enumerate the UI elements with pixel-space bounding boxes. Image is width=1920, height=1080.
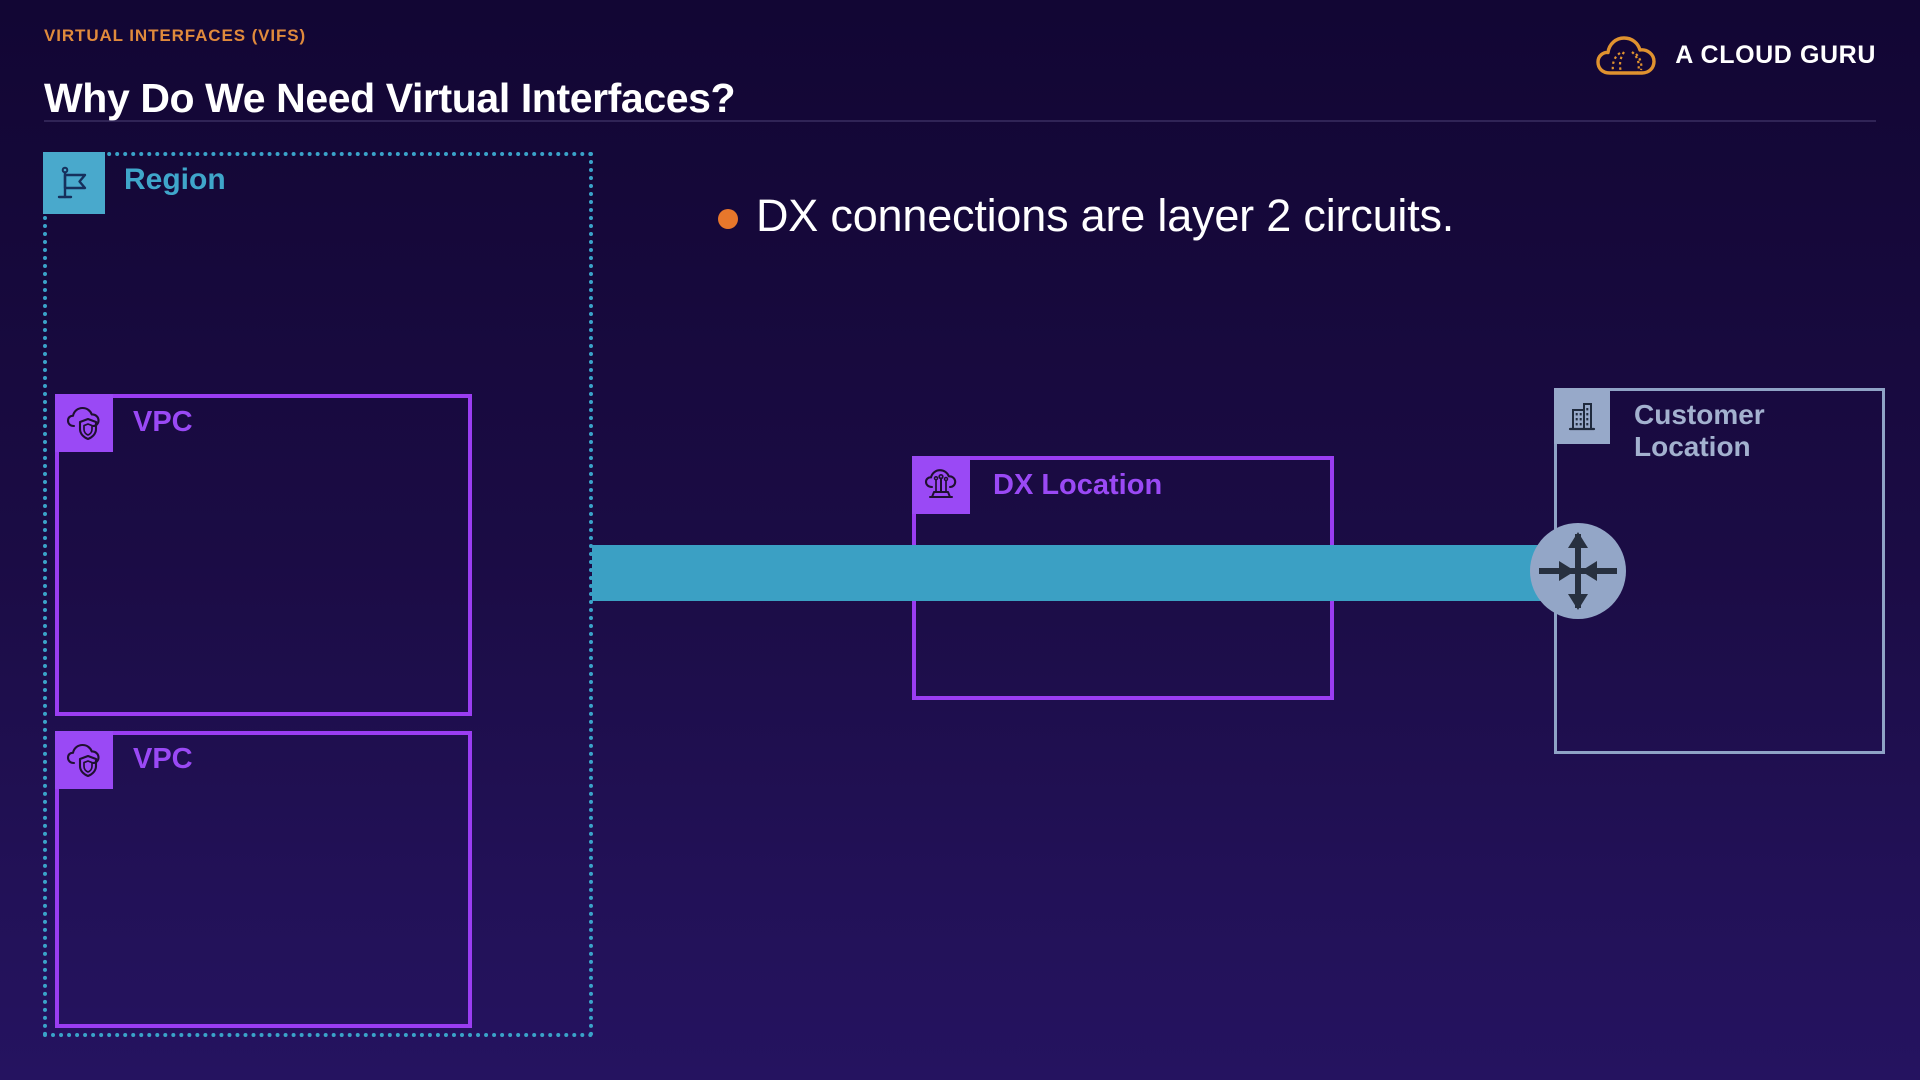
slide-canvas: VIRTUAL INTERFACES (VIFS) Why Do We Need… — [0, 0, 1920, 1080]
dx-connection-line — [592, 545, 1582, 601]
vpc-group-box-1 — [55, 394, 472, 716]
cloud-tower-icon — [912, 456, 970, 514]
bullet-list-item: DX connections are layer 2 circuits. — [718, 190, 1454, 242]
bullet-text: DX connections are layer 2 circuits. — [756, 190, 1454, 242]
flag-icon — [43, 152, 105, 214]
bullet-dot-icon — [718, 209, 738, 229]
brand-logo: A CLOUD GURU — [1596, 33, 1876, 77]
slide-eyebrow: VIRTUAL INTERFACES (VIFS) — [44, 26, 306, 46]
vpc-group-label-1: VPC — [133, 406, 193, 440]
building-icon — [1554, 388, 1610, 444]
customer-location-group-label: Customer Location — [1634, 399, 1765, 464]
brand-logo-text: A CLOUD GURU — [1675, 41, 1876, 70]
slide-header: VIRTUAL INTERFACES (VIFS) Why Do We Need… — [0, 0, 1920, 120]
page-title: Why Do We Need Virtual Interfaces? — [44, 75, 735, 122]
region-group-label: Region — [124, 163, 226, 198]
header-divider — [44, 120, 1876, 122]
cloud-shield-icon — [55, 731, 113, 789]
vpc-group-label-2: VPC — [133, 743, 193, 777]
cloud-outline-icon — [1596, 33, 1662, 77]
cloud-shield-icon — [55, 394, 113, 452]
dx-location-group-label: DX Location — [993, 469, 1162, 503]
router-icon — [1528, 521, 1628, 621]
vpc-group-box-2 — [55, 731, 472, 1028]
